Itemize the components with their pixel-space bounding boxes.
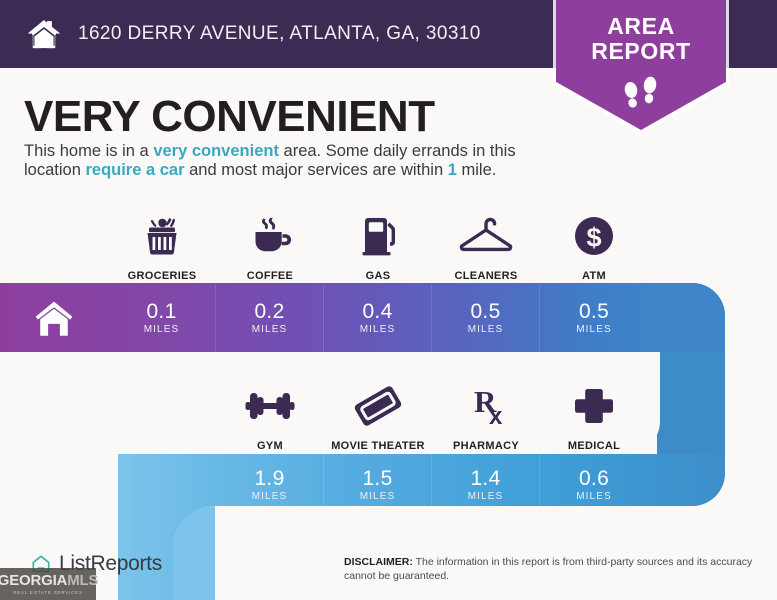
disclaimer: DISCLAIMER: The information in this repo…	[344, 556, 764, 583]
row1-icon-strip: GROCERIES COFFEE	[108, 196, 648, 282]
subtitle-highlight-car: require a car	[85, 161, 184, 179]
amenity-label: ATM	[582, 270, 606, 282]
distance-value: 0.2	[254, 301, 284, 323]
distance-value: 1.4	[470, 468, 500, 490]
distance-cell: 0.1 MILES	[108, 284, 216, 352]
amenity-coffee: COFFEE	[216, 196, 324, 282]
distance-value: 1.5	[362, 468, 392, 490]
distance-unit: MILES	[252, 324, 288, 335]
distance-unit: MILES	[144, 324, 180, 335]
distance-value: 0.6	[579, 468, 609, 490]
amenity-groceries: GROCERIES	[108, 196, 216, 282]
page-title: VERY CONVENIENT	[24, 92, 435, 142]
amenity-pharmacy: R x PHARMACY	[432, 366, 540, 452]
badge-title-line2: REPORT	[548, 39, 734, 64]
badge-title-line1: AREA	[548, 14, 734, 39]
distance-cell: 0.5 MILES	[432, 284, 540, 352]
page-subtitle: This home is in a very convenient area. …	[24, 142, 554, 180]
distance-unit: MILES	[360, 491, 396, 502]
badge-title: AREA REPORT	[548, 14, 734, 64]
distance-unit: MILES	[576, 324, 612, 335]
prescription-rx-icon: R x	[460, 380, 512, 432]
home-icon	[33, 299, 75, 337]
subtitle-highlight-convenience: very convenient	[153, 142, 279, 160]
row1-distance-cells: 0.1 MILES 0.2 MILES 0.4 MILES 0.5 MILES …	[108, 284, 648, 352]
distance-cell: 0.4 MILES	[324, 284, 432, 352]
amenity-gym: GYM	[216, 366, 324, 452]
dumbbell-icon	[239, 380, 301, 432]
distance-cell: 0.6 MILES	[540, 454, 648, 516]
distance-unit: MILES	[360, 324, 396, 335]
distance-value: 0.1	[146, 301, 176, 323]
home-marker-cell	[0, 284, 108, 352]
distance-cell: 1.5 MILES	[324, 454, 432, 516]
footprints-icon	[619, 76, 663, 116]
svg-text:x: x	[489, 403, 503, 430]
area-report-badge: AREA REPORT	[548, 0, 734, 140]
property-address: 1620 DERRY AVENUE, ATLANTA, GA, 30310	[78, 23, 481, 45]
distance-value: 0.5	[470, 301, 500, 323]
amenity-gas: GAS	[324, 196, 432, 282]
distance-unit: MILES	[468, 491, 504, 502]
movie-ticket-icon	[350, 380, 406, 432]
distance-value: 0.4	[362, 301, 392, 323]
distance-value: 0.5	[579, 301, 609, 323]
distance-cell: 1.4 MILES	[432, 454, 540, 516]
subtitle-part3: and most major services are within	[185, 161, 448, 179]
area-report-page: 1620 DERRY AVENUE, ATLANTA, GA, 30310 AR…	[0, 0, 777, 600]
distance-cell: 0.5 MILES	[540, 284, 648, 352]
home-icon	[26, 16, 62, 52]
pipe-bottom-white	[257, 506, 777, 600]
subtitle-part1: This home is in a	[24, 142, 153, 160]
watermark-subtitle: REAL ESTATE SERVICES	[13, 590, 83, 595]
gas-pump-icon	[352, 210, 404, 262]
subtitle-highlight-miles: 1	[448, 161, 457, 179]
amenity-movie-theater: MOVIE THEATER	[324, 366, 432, 452]
medical-cross-icon	[569, 380, 619, 432]
distance-value: 1.9	[254, 468, 284, 490]
coffee-cup-icon	[244, 210, 296, 262]
amenity-label: PHARMACY	[453, 440, 519, 452]
header-right-strip	[734, 0, 777, 68]
georgia-mls-watermark: GEORGIAMLS REAL ESTATE SERVICES	[0, 568, 96, 600]
atm-dollar-icon: $	[568, 210, 620, 262]
clothes-hanger-icon	[455, 210, 517, 262]
amenity-label: COFFEE	[247, 270, 293, 282]
distance-cell: 0.2 MILES	[216, 284, 324, 352]
watermark-title: GEORGIAMLS	[0, 573, 98, 588]
distance-unit: MILES	[252, 491, 288, 502]
distance-cell: 1.9 MILES	[216, 454, 324, 516]
svg-text:$: $	[586, 223, 601, 253]
subtitle-part4: mile.	[457, 161, 496, 179]
watermark-mls: MLS	[67, 572, 98, 589]
grocery-basket-icon	[136, 210, 188, 262]
watermark-georgia: GEORGIA	[0, 572, 67, 589]
amenity-label: MOVIE THEATER	[331, 440, 425, 452]
amenity-cleaners: CLEANERS	[432, 196, 540, 282]
amenity-label: CLEANERS	[455, 270, 518, 282]
amenity-label: GYM	[257, 440, 283, 452]
amenity-label: GAS	[366, 270, 391, 282]
amenity-medical: MEDICAL	[540, 366, 648, 452]
amenity-label: GROCERIES	[128, 270, 197, 282]
distance-unit: MILES	[576, 491, 612, 502]
row2-distance-cells: 1.9 MILES 1.5 MILES 1.4 MILES 0.6 MILES	[216, 454, 648, 516]
distance-unit: MILES	[468, 324, 504, 335]
row2-icon-strip: GYM MOVIE THEATER R x PHARMACY	[216, 366, 648, 452]
amenity-label: MEDICAL	[568, 440, 620, 452]
amenity-atm: $ ATM	[540, 196, 648, 282]
disclaimer-label: DISCLAIMER:	[344, 556, 413, 568]
